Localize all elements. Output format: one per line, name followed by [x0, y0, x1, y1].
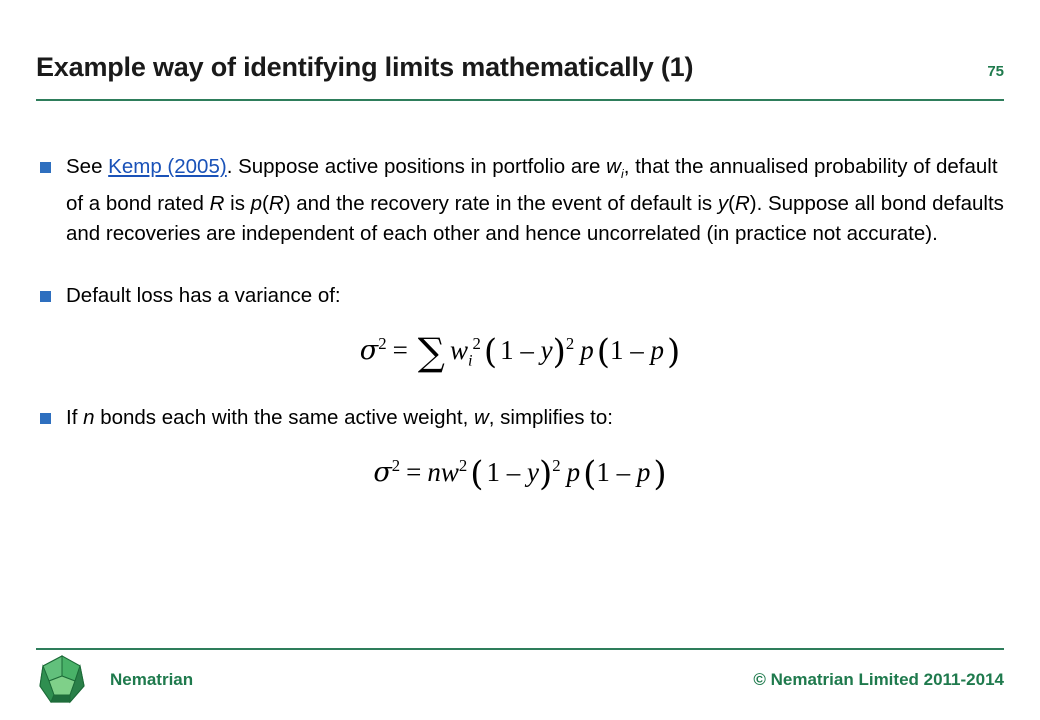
bullet-variance: Default loss has a variance of: [36, 281, 1004, 311]
nematrian-polyhedron-logo-icon [36, 654, 88, 706]
equation-variance-sum: σ2=∑wi2(1 – y)2p(1 – p) [36, 333, 1004, 371]
bullet-simplifies-text: If n bonds each with the same active wei… [66, 403, 1004, 433]
bullet-marker-icon [40, 162, 51, 173]
copyright-label: © Nematrian Limited 2011-2014 [753, 670, 1004, 690]
bullet-marker-icon [40, 413, 51, 424]
bullet-simplifies: If n bonds each with the same active wei… [36, 403, 1004, 433]
page-number: 75 [987, 63, 1004, 80]
bullet-kemp: See Kemp (2005). Suppose active position… [36, 152, 1004, 249]
kemp-2005-link[interactable]: Kemp (2005) [108, 155, 227, 178]
bullet-marker-icon [40, 291, 51, 302]
slide-body: See Kemp (2005). Suppose active position… [36, 152, 1004, 491]
bullet-kemp-prefix: See [66, 155, 108, 178]
equation-variance-simplified: σ2=nw2(1 – y)2p(1 – p) [36, 457, 1004, 491]
bullet-kemp-text: See Kemp (2005). Suppose active position… [66, 152, 1004, 249]
page-title: Example way of identifying limits mathem… [36, 52, 693, 83]
slide: Example way of identifying limits mathem… [0, 0, 1040, 720]
slide-header: Example way of identifying limits mathem… [36, 52, 1004, 96]
slide-footer: Nematrian © Nematrian Limited 2011-2014 [36, 652, 1004, 712]
bullet-variance-text: Default loss has a variance of: [66, 281, 1004, 311]
title-divider [36, 99, 1004, 101]
footer-divider [36, 648, 1004, 650]
brand-label: Nematrian [110, 670, 193, 690]
